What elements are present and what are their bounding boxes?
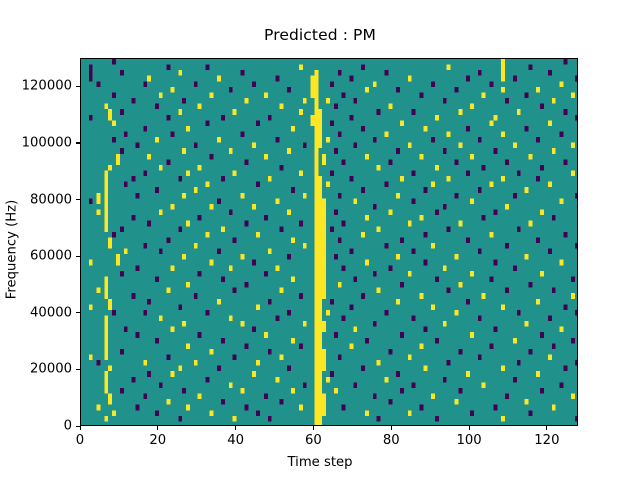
y-tick-label: 100000 xyxy=(22,135,72,150)
figure-canvas: Predicted : PM 0200004000060000800001000… xyxy=(0,0,640,480)
y-tick-label: 80000 xyxy=(30,192,72,207)
y-axis-label: Frequency (Hz) xyxy=(5,150,20,350)
y-tick-mark xyxy=(76,199,80,200)
x-tick-mark xyxy=(80,426,81,430)
y-tick-mark xyxy=(76,86,80,87)
x-tick-mark xyxy=(469,426,470,430)
x-tick-label: 60 xyxy=(305,433,322,448)
heatmap-image xyxy=(81,59,578,426)
y-tick-label: 40000 xyxy=(30,305,72,320)
x-tick-label: 40 xyxy=(227,433,244,448)
x-tick-mark xyxy=(235,426,236,430)
y-tick-label: 60000 xyxy=(30,249,72,264)
x-tick-label: 0 xyxy=(76,433,84,448)
x-tick-label: 20 xyxy=(149,433,166,448)
y-tick-mark xyxy=(76,312,80,313)
y-tick-mark xyxy=(76,369,80,370)
x-tick-mark xyxy=(546,426,547,430)
x-tick-mark xyxy=(391,426,392,430)
x-axis-label: Time step xyxy=(0,455,640,470)
page-title: Predicted : PM xyxy=(0,26,640,44)
x-tick-label: 120 xyxy=(534,433,559,448)
y-tick-mark xyxy=(76,142,80,143)
y-tick-label: 0 xyxy=(64,419,72,434)
y-tick-label: 20000 xyxy=(30,362,72,377)
x-tick-label: 80 xyxy=(383,433,400,448)
heatmap-axes[interactable] xyxy=(80,58,578,426)
x-tick-mark xyxy=(313,426,314,430)
y-tick-label: 120000 xyxy=(22,79,72,94)
x-tick-label: 100 xyxy=(456,433,481,448)
x-tick-mark xyxy=(157,426,158,430)
y-tick-mark xyxy=(76,256,80,257)
